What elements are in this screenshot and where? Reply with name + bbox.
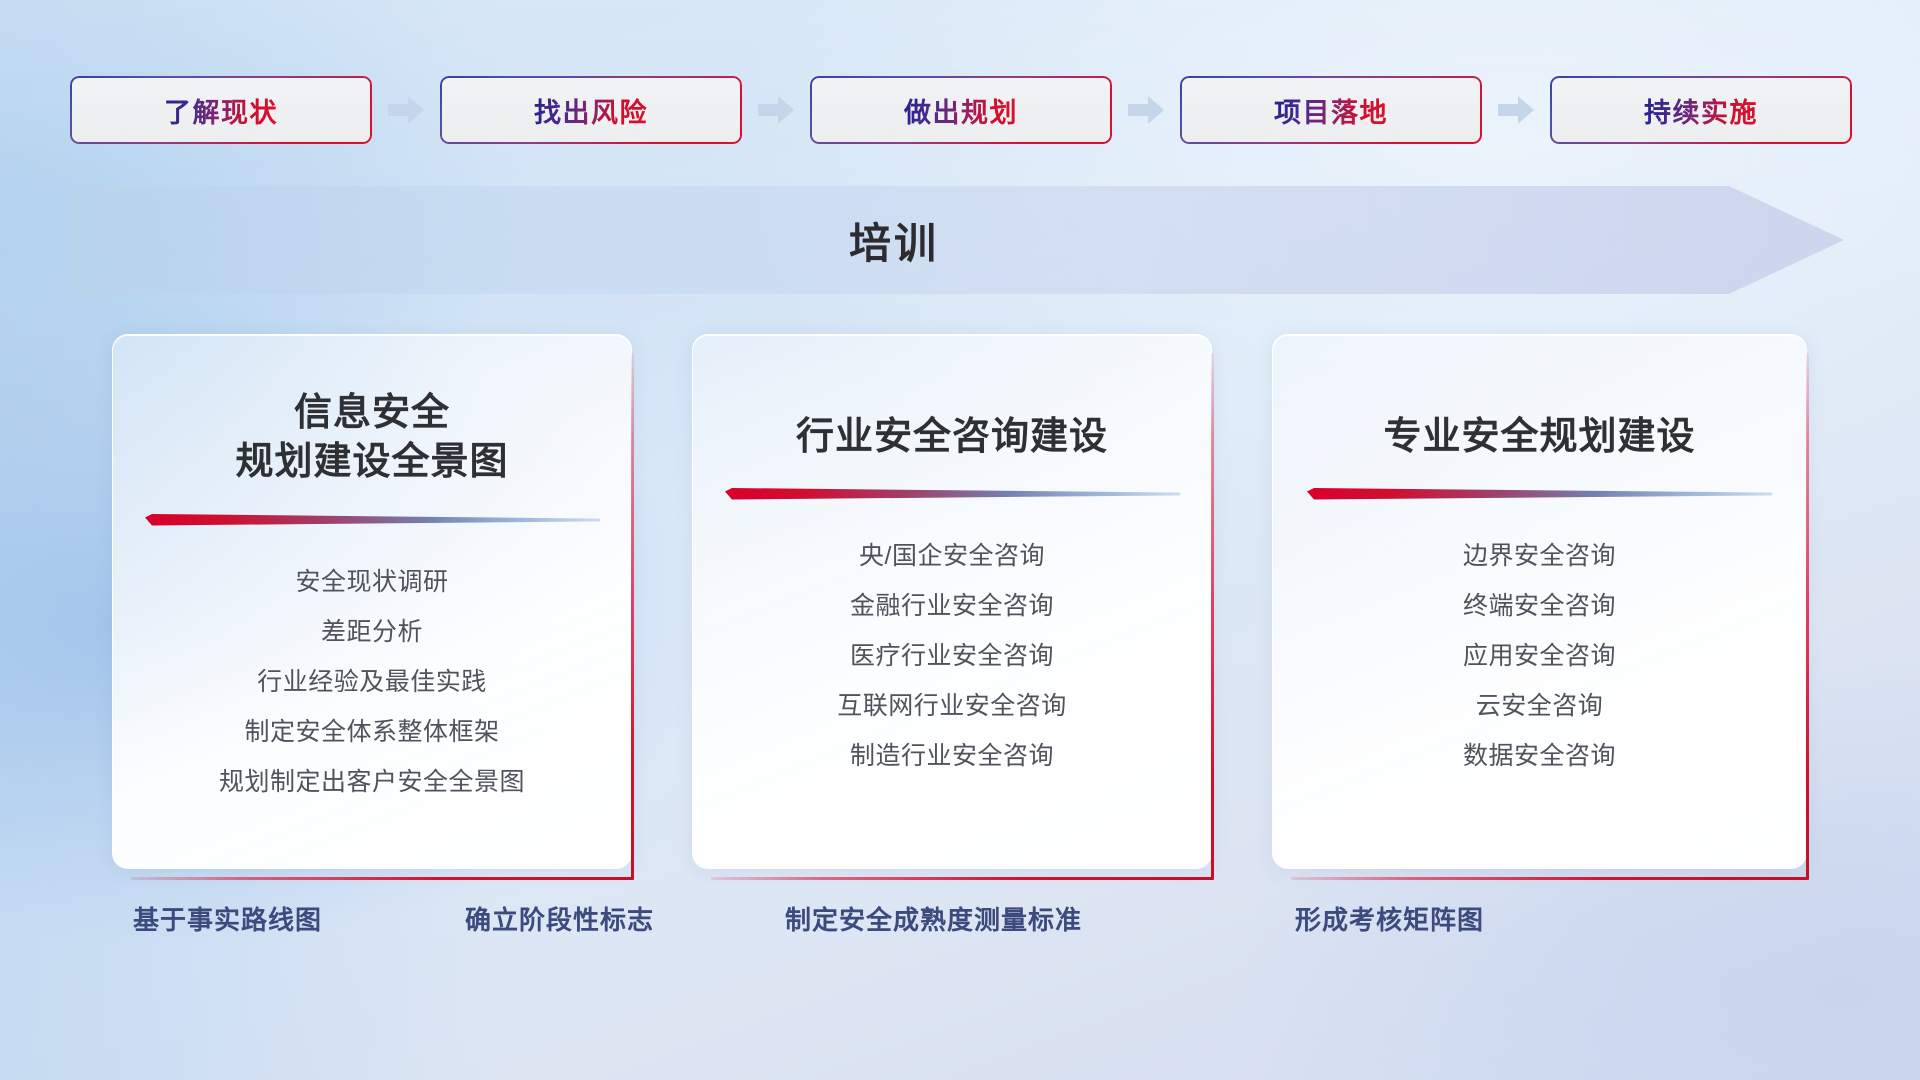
list-item: 央/国企安全咨询 — [693, 531, 1211, 581]
card-row: 信息安全 规划建设全景图 — [0, 334, 1920, 874]
arrow-right-icon — [1482, 95, 1550, 125]
card-accent-line-right — [1806, 353, 1809, 880]
step-label: 项目落地 — [1274, 91, 1388, 130]
card-item-list: 央/国企安全咨询 金融行业安全咨询 医疗行业安全咨询 互联网行业安全咨询 制造行… — [693, 531, 1211, 781]
step-box-5[interactable]: 持续实施 — [1550, 76, 1852, 144]
card-title: 行业安全咨询建设 — [693, 413, 1211, 462]
arrow-right-icon — [742, 95, 810, 125]
card-industry-consulting[interactable]: 行业安全咨询建设 — [692, 334, 1212, 869]
banner-label-wrap: 培训 — [74, 186, 1844, 294]
list-item: 安全现状调研 — [113, 557, 631, 607]
step-label: 持续实施 — [1644, 91, 1758, 130]
card-panoramic-plan[interactable]: 信息安全 规划建设全景图 — [112, 334, 632, 869]
step-label: 做出规划 — [904, 91, 1018, 130]
banner-label: 培训 — [849, 210, 939, 271]
card-title: 专业安全规划建设 — [1273, 413, 1806, 462]
list-item: 应用安全咨询 — [1273, 631, 1806, 681]
card-item-list: 边界安全咨询 终端安全咨询 应用安全咨询 云安全咨询 数据安全咨询 — [1273, 531, 1806, 781]
list-item: 规划制定出客户安全全景图 — [113, 757, 631, 807]
arrow-right-icon — [1112, 95, 1180, 125]
card-title: 信息安全 规划建设全景图 — [113, 389, 631, 488]
list-item: 终端安全咨询 — [1273, 581, 1806, 631]
arrow-right-icon — [372, 95, 440, 125]
list-item: 制定安全体系整体框架 — [113, 707, 631, 757]
step-label: 找出风险 — [534, 91, 648, 130]
card-accent-line-right — [631, 353, 634, 880]
step-label: 了解现状 — [164, 91, 278, 130]
step-box-1[interactable]: 了解现状 — [70, 76, 372, 144]
tapered-divider-icon — [725, 488, 1180, 501]
list-item: 差距分析 — [113, 607, 631, 657]
list-item: 行业经验及最佳实践 — [113, 657, 631, 707]
card-accent-line-bottom — [131, 877, 634, 880]
list-item: 数据安全咨询 — [1273, 731, 1806, 781]
card-professional-plan[interactable]: 专业安全规划建设 — [1272, 334, 1807, 869]
list-item: 医疗行业安全咨询 — [693, 631, 1211, 681]
step-box-4[interactable]: 项目落地 — [1180, 76, 1482, 144]
card-item-list: 安全现状调研 差距分析 行业经验及最佳实践 制定安全体系整体框架 规划制定出客户… — [113, 557, 631, 807]
list-item: 云安全咨询 — [1273, 681, 1806, 731]
card-accent-line-bottom — [711, 877, 1214, 880]
training-banner: 培训 — [74, 186, 1844, 294]
process-step-strip: 了解现状找出风险做出规划项目落地持续实施 — [70, 75, 1850, 145]
step-box-3[interactable]: 做出规划 — [810, 76, 1112, 144]
footer-label-matrix: 形成考核矩阵图 — [1295, 900, 1484, 937]
card-accent-line-right — [1211, 353, 1214, 880]
footer-label-milestone: 确立阶段性标志 — [465, 900, 654, 937]
footer-label-roadmap: 基于事实路线图 — [133, 900, 322, 937]
footer-label-maturity: 制定安全成熟度测量标准 — [785, 900, 1082, 937]
card-accent-line-bottom — [1291, 877, 1809, 880]
tapered-divider-icon — [145, 514, 600, 527]
slide-canvas: 了解现状找出风险做出规划项目落地持续实施 培训 信息安全 规划建设全景图 — [0, 0, 1920, 1080]
footer-label-row: 基于事实路线图 确立阶段性标志 制定安全成熟度测量标准 形成考核矩阵图 — [0, 900, 1920, 950]
tapered-divider-icon — [1307, 488, 1772, 501]
list-item: 互联网行业安全咨询 — [693, 681, 1211, 731]
step-box-2[interactable]: 找出风险 — [440, 76, 742, 144]
list-item: 边界安全咨询 — [1273, 531, 1806, 581]
list-item: 制造行业安全咨询 — [693, 731, 1211, 781]
list-item: 金融行业安全咨询 — [693, 581, 1211, 631]
